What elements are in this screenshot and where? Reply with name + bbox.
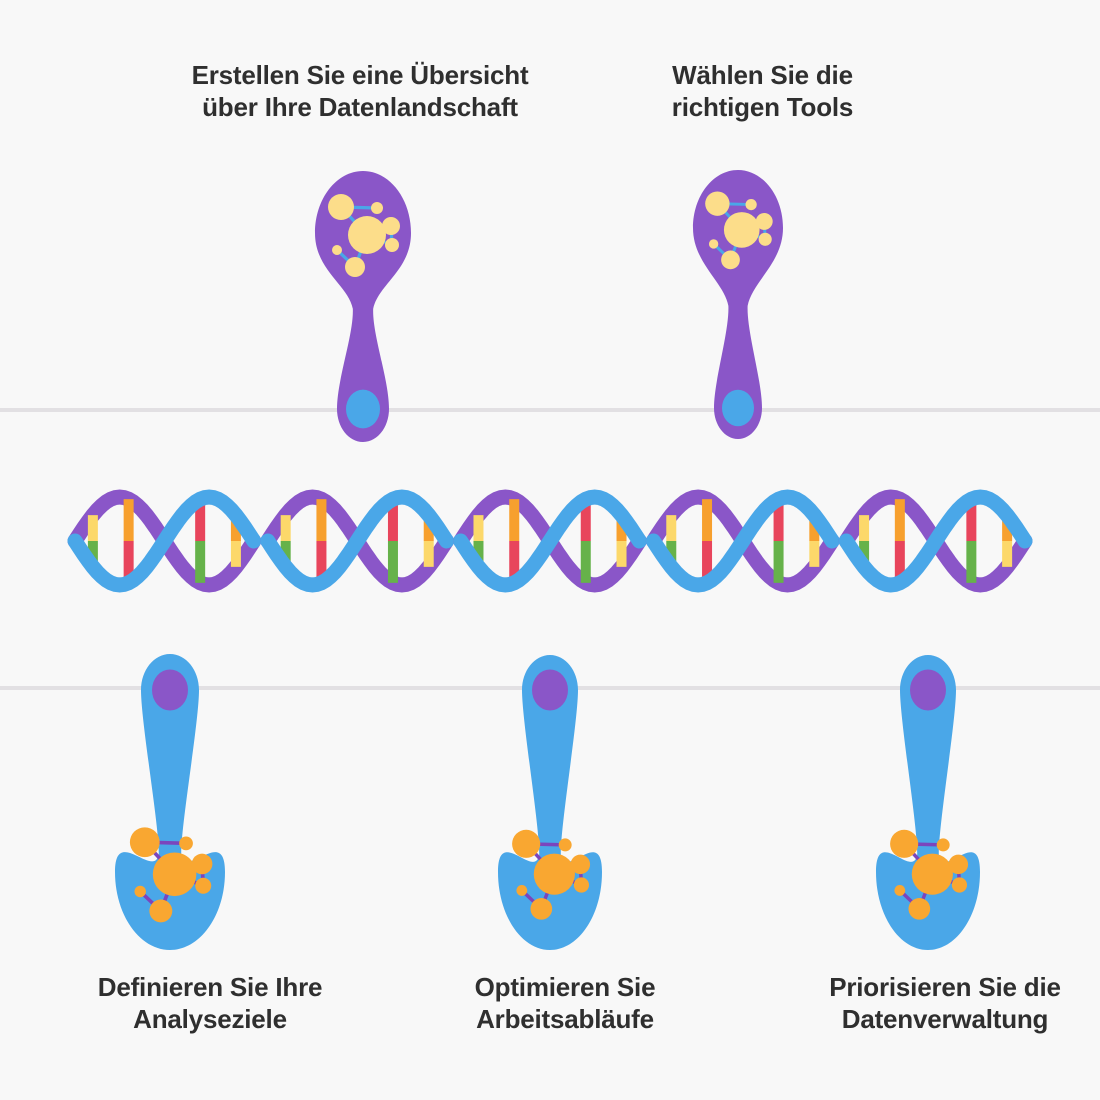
dna-rung-lower [617,541,627,567]
network-node [909,898,931,920]
network-node [759,233,772,246]
network-node [345,257,365,277]
dna-rung-upper [88,515,98,541]
network-node [890,830,918,858]
dna-rung-upper [666,515,676,541]
label-define-goals: Definieren Sie Ihre Analyseziele [40,972,380,1035]
dna-segment [75,497,254,585]
network-node [756,213,773,230]
dna-rung-lower [1002,541,1012,567]
dna-rung-upper [509,499,519,541]
infographic-root: Erstellen Sie eine Übersicht über Ihre D… [0,0,1100,1100]
dna-rung-lower [388,541,398,583]
pin-tip-dot [152,669,188,710]
network-node [130,827,160,857]
dna-rung-upper [281,515,291,541]
dna-segment [653,497,832,585]
infographic-artwork [0,0,1100,1100]
network-node [534,854,575,895]
label-prioritize-governance: Priorisieren Sie die Datenverwaltung [775,972,1100,1035]
network-node [195,878,211,894]
network-node [949,855,969,875]
network-node [721,251,740,270]
network-node [371,202,383,214]
pin-tip-dot [722,390,754,426]
network-node [574,877,589,892]
dna-rung-upper [895,499,905,541]
dna-rung-lower [774,541,784,583]
network-node [937,838,950,851]
dna-double-helix [75,497,1025,585]
network-node [382,217,400,235]
pin-governance [876,655,980,950]
network-node [153,853,197,897]
network-node [746,199,757,210]
network-node [516,885,527,896]
network-node [724,212,760,248]
network-node [134,886,145,897]
dna-rung-upper [124,499,134,541]
network-node [348,216,386,254]
network-node [149,900,172,923]
dna-segment [268,497,447,585]
network-node [531,898,553,920]
network-node [559,838,572,851]
network-node [512,830,540,858]
dna-rung-upper [473,515,483,541]
dna-rung-lower [581,541,591,583]
network-node [894,885,905,896]
pin-tip-dot [910,669,946,710]
network-node [332,245,342,255]
network-node [192,854,213,875]
dna-rung-lower [195,541,205,583]
network-node [571,855,591,875]
network-node [709,239,718,248]
network-node [328,194,354,220]
pin-overview [315,171,411,442]
pin-tip-dot [532,669,568,710]
dna-rung-lower [809,541,819,567]
network-node [179,836,193,850]
divider-upper [0,408,1100,412]
dna-rung-upper [316,499,326,541]
pin-tip-dot [346,390,380,429]
pin-workflows [498,655,602,950]
pin-tools [693,170,783,439]
label-choose-tools: Wählen Sie die richtigen Tools [605,60,920,123]
network-node [385,238,399,252]
network-node [705,191,729,215]
dna-rung-upper [859,515,869,541]
network-node [952,877,967,892]
dna-rung-upper [702,499,712,541]
network-node [912,854,953,895]
dna-segment [846,497,1025,585]
dna-rung-lower [424,541,434,567]
label-create-overview: Erstellen Sie eine Übersicht über Ihre D… [160,60,560,123]
dna-segment [461,497,640,585]
label-optimize-workflows: Optimieren Sie Arbeitsabläufe [410,972,720,1035]
dna-rung-lower [966,541,976,583]
pin-goals [115,654,225,950]
dna-rung-lower [231,541,241,567]
